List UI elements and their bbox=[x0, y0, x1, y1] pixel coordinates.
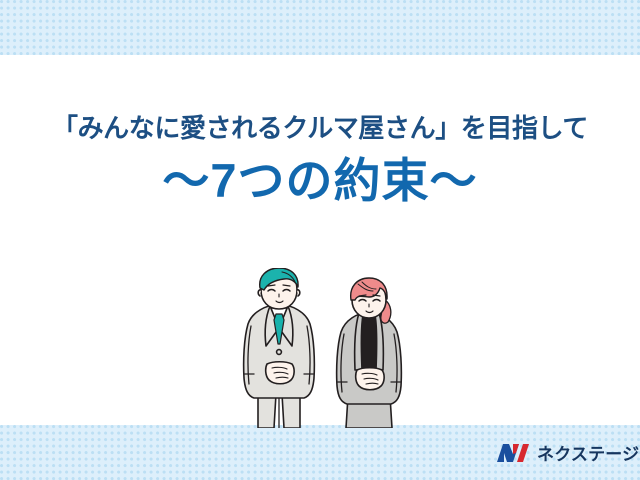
slide-canvas: 「みんなに愛されるクルマ屋さん」を目指して 〜7つの約束〜 bbox=[0, 0, 640, 480]
headline-block: 「みんなに愛されるクルマ屋さん」を目指して 〜7つの約束〜 bbox=[0, 112, 640, 206]
brand-name-text: ネクステージ bbox=[537, 440, 639, 465]
two-bowing-staff-illustration bbox=[236, 268, 416, 428]
male-staff-figure bbox=[244, 268, 315, 428]
headline-line-2: 〜7つの約束〜 bbox=[0, 155, 640, 207]
nextage-n-logo-icon bbox=[496, 441, 530, 465]
brand-logo: ネクステージ bbox=[496, 440, 639, 465]
female-staff-figure bbox=[337, 278, 402, 428]
headline-line-1: 「みんなに愛されるクルマ屋さん」を目指して bbox=[0, 112, 640, 145]
top-dot-band bbox=[0, 0, 640, 55]
